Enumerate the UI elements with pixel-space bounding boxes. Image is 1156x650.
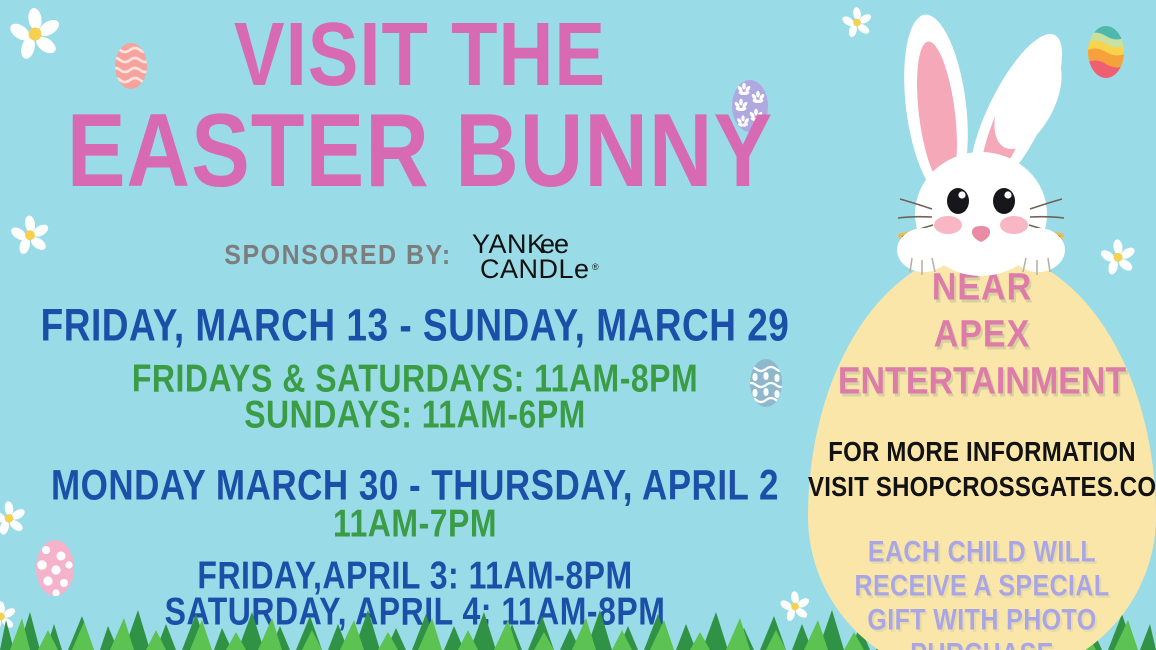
location-line-2: APEX (808, 313, 1156, 357)
daisy-flower-icon (840, 6, 874, 40)
egg-panel-content: NEAR APEX ENTERTAINMENT FOR MORE INFORMA… (808, 250, 1156, 650)
gift-line-4: PURCHASE (808, 640, 1156, 650)
website-line[interactable]: VISIT SHOPCROSSGATES.COM (808, 472, 1156, 504)
headline-line-1: VISIT THE (0, 12, 840, 100)
yellow-egg-panel: NEAR APEX ENTERTAINMENT FOR MORE INFORMA… (808, 250, 1156, 650)
gift-line-1: EACH CHILD WILL (808, 538, 1156, 568)
schedule-line-1: FRIDAY, MARCH 13 - SUNDAY, MARCH 29 (0, 300, 830, 351)
registered-mark: ® (592, 262, 599, 272)
gift-line-3: GIFT WITH PHOTO (808, 606, 1156, 636)
logo-brand-line-2: CANDL (480, 254, 574, 282)
easter-bunny-illustration (876, 0, 1086, 286)
rainbow-striped-egg-icon (1084, 22, 1128, 80)
gift-line-2: RECEIVE A SPECIAL (808, 572, 1156, 602)
headline-block: VISIT THE EASTER BUNNY (0, 12, 840, 187)
headline-line-2: EASTER BUNNY (0, 100, 840, 202)
location-line-3: ENTERTAINMENT (808, 360, 1156, 404)
schedule-line-3: SUNDAYS: 11AM-6PM (0, 392, 830, 437)
daisy-flower-icon (1098, 238, 1138, 278)
yankee-candle-logo: YANK ee CANDL e ® (470, 228, 616, 282)
schedule-line-5: 11AM-7PM (0, 501, 830, 546)
sponsored-by-label: SPONSORED BY: (224, 239, 451, 271)
easter-bunny-poster: VISIT THE EASTER BUNNY SPONSORED BY: YAN… (0, 0, 1156, 650)
daisy-flower-icon (778, 590, 812, 624)
logo-brand-e: e (574, 254, 589, 282)
sponsor-row: SPONSORED BY: YANK ee CANDL e ® (0, 228, 840, 282)
info-line-1: FOR MORE INFORMATION (808, 437, 1156, 469)
